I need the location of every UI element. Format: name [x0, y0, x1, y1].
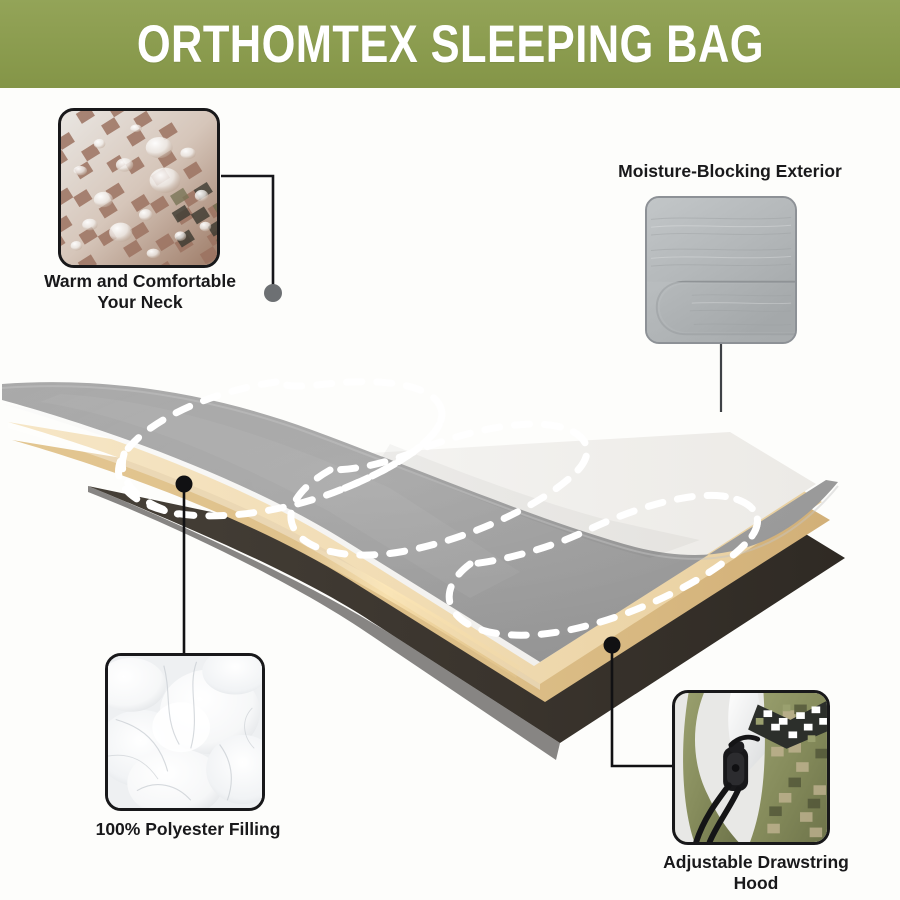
water-repellent-fabric-photo	[58, 108, 220, 268]
polyester-fill-photo	[105, 653, 265, 811]
page-title: ORTHOMTEX SLEEPING BAG	[136, 14, 763, 75]
quilted-bag-exterior-photo	[645, 196, 797, 344]
header-banner: ORTHOMTEX SLEEPING BAG	[0, 0, 900, 88]
caption-exterior: Moisture-Blocking Exterior	[570, 161, 890, 182]
caption-fill: 100% Polyester Filling	[48, 819, 328, 840]
caption-hood: Adjustable Drawstring Hood	[636, 852, 876, 893]
caption-neck: Warm and Comfortable Your Neck	[10, 271, 270, 312]
drawstring-hood-photo	[672, 690, 830, 845]
infographic-canvas: ORTHOMTEX SLEEPING BAG	[0, 0, 900, 900]
